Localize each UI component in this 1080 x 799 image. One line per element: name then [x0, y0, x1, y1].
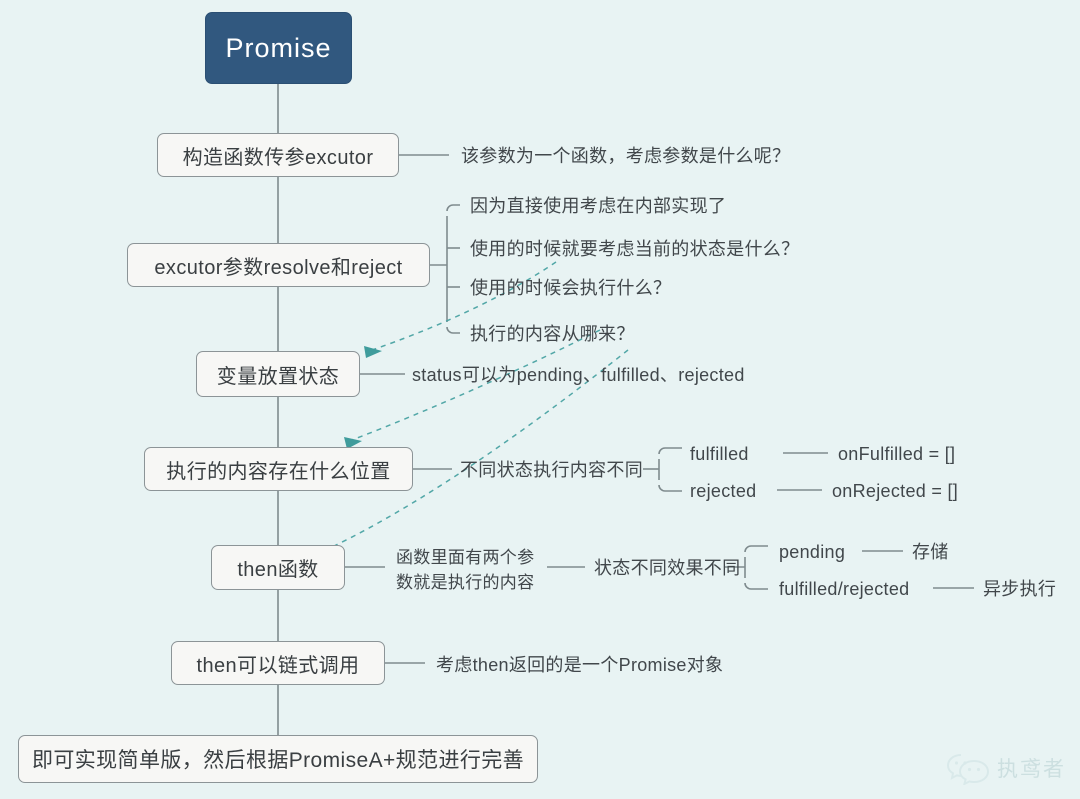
node-label: 构造函数传参excutor — [183, 141, 374, 170]
node-label: 变量放置状态 — [217, 360, 339, 389]
node-root-promise[interactable]: Promise — [205, 12, 352, 84]
node-label: then函数 — [237, 553, 318, 582]
label-then-returns-promise: 考虑then返回的是一个Promise对象 — [436, 653, 723, 677]
label-n2-note-2: 使用的时候就要考虑当前的状态是什么？ — [470, 237, 799, 261]
node-label: excutor参数resolve和reject — [154, 251, 402, 280]
label-then-params-line2: 数就是执行的内容 — [396, 571, 546, 596]
node-variable-state[interactable]: 变量放置状态 — [196, 351, 360, 397]
node-conclusion[interactable]: 即可实现简单版，然后根据PromiseA+规范进行完善 — [18, 735, 538, 783]
watermark: 执鸢者 — [946, 751, 1066, 785]
label-state-rejected: rejected — [690, 479, 756, 503]
node-label: 执行的内容存在什么位置 — [166, 455, 390, 484]
label-then-state-settled: fulfilled/rejected — [779, 577, 909, 601]
node-excutor-params[interactable]: excutor参数resolve和reject — [127, 243, 430, 287]
wechat-icon — [946, 751, 990, 785]
label-onrejected-value: onRejected = [] — [832, 479, 958, 503]
label-then-pending-value: 存储 — [912, 540, 949, 564]
label-then-state-pending: pending — [779, 540, 845, 564]
label-status-values: status可以为pending、fulfilled、rejected — [412, 363, 745, 387]
label-n2-note-1: 因为直接使用考虑在内部实现了 — [470, 194, 726, 218]
node-then-chaining[interactable]: then可以链式调用 — [171, 641, 385, 685]
node-then-function[interactable]: then函数 — [211, 545, 345, 590]
label-n2-note-4: 执行的内容从哪来？ — [470, 322, 635, 346]
mindmap-canvas: Promise 构造函数传参excutor excutor参数resolve和r… — [0, 0, 1080, 799]
watermark-text: 执鸢者 — [997, 753, 1066, 783]
label-onfulfilled-value: onFulfilled = [] — [838, 442, 955, 466]
label-state-effect-note: 状态不同效果不同 — [594, 556, 740, 580]
node-label: 即可实现简单版，然后根据PromiseA+规范进行完善 — [32, 744, 524, 774]
label-then-params-note: 函数里面有两个参 数就是执行的内容 — [396, 546, 546, 595]
node-label: then可以链式调用 — [197, 649, 360, 678]
label-different-state-content: 不同状态执行内容不同 — [460, 458, 643, 482]
node-root-label: Promise — [225, 33, 331, 64]
node-execution-location[interactable]: 执行的内容存在什么位置 — [144, 447, 413, 491]
label-n2-note-3: 使用的时候会执行什么？ — [470, 276, 671, 300]
node-constructor-excutor[interactable]: 构造函数传参excutor — [157, 133, 399, 177]
label-then-settled-value: 异步执行 — [983, 577, 1056, 601]
label-state-fulfilled: fulfilled — [690, 442, 749, 466]
label-excutor-param-note: 该参数为一个函数，考虑参数是什么呢？ — [461, 144, 790, 168]
label-then-params-line1: 函数里面有两个参 — [396, 546, 546, 571]
connector-lines — [0, 0, 1080, 799]
